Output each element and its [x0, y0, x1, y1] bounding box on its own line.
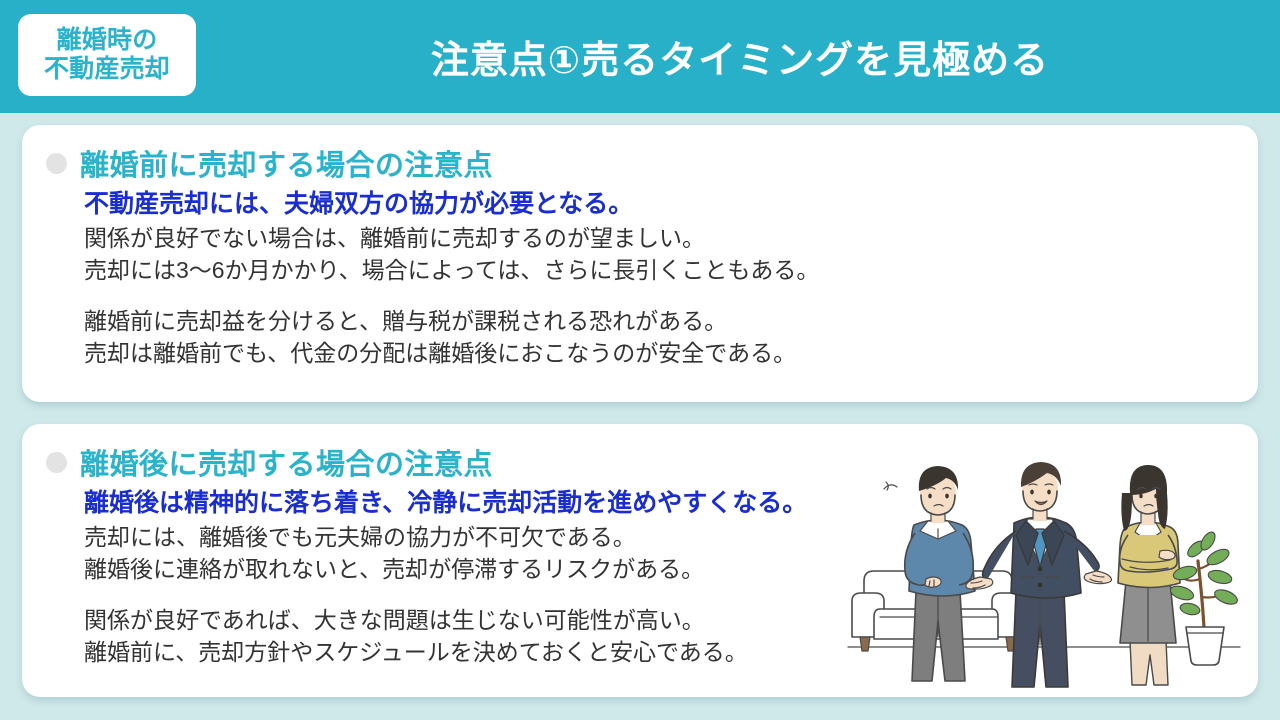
- bullet-dot-icon: [46, 452, 67, 473]
- accent-line: 離婚後は精神的に落ち着き、冷静に売却活動を進めやすくなる。: [84, 486, 1084, 520]
- body-line: 離婚前に売却益を分けると、贈与税が課税される恐れがある。: [84, 306, 1084, 338]
- card-heading: 離婚前に売却する場合の注意点: [46, 142, 493, 184]
- card-before-divorce: 離婚前に売却する場合の注意点 不動産売却には、夫婦双方の協力が必要となる。 関係…: [22, 125, 1258, 402]
- card-body: 離婚後は精神的に落ち着き、冷静に売却活動を進めやすくなる。 売却には、離婚後でも…: [84, 486, 1084, 669]
- eyebrow-right: [1152, 488, 1160, 490]
- paragraph-spacer: [84, 585, 1084, 605]
- card-after-divorce: 離婚後に売却する場合の注意点 離婚後は精神的に落ち着き、冷静に売却活動を進めやす…: [22, 424, 1258, 697]
- header-badge: 離婚時の 不動産売却: [18, 14, 196, 96]
- paragraph-spacer: [84, 286, 1084, 306]
- eyebrow-left: [1029, 484, 1037, 485]
- body-line: 売却には、離婚後でも元夫婦の協力が不可欠である。: [84, 522, 1084, 554]
- badge-line-2: 不動産売却: [44, 55, 170, 84]
- eyebrow-right: [1045, 484, 1053, 485]
- slide-root: 離婚時の 不動産売却 注意点①売るタイミングを見極める 離婚前に売却する場合の注…: [0, 0, 1280, 720]
- body-line: 離婚前に、売却方針やスケジュールを決めておくと安心である。: [84, 637, 1084, 669]
- body-line: 離婚後に連絡が取れないと、売却が停滞するリスクがある。: [84, 554, 1084, 586]
- header-bar: 離婚時の 不動産売却 注意点①売るタイミングを見極める: [0, 0, 1280, 113]
- badge-line-1: 離婚時の: [57, 26, 158, 55]
- person-woman-yellow-cardigan: [1118, 465, 1180, 685]
- mouth-frown: [1144, 505, 1153, 507]
- bullet-dot-icon: [46, 153, 67, 174]
- body-line: 関係が良好でない場合は、離婚前に売却するのが望ましい。: [84, 223, 1084, 255]
- card-heading-label: 離婚後に売却する場合の注意点: [80, 441, 493, 483]
- body-line: 関係が良好であれば、大きな問題は生じない可能性が高い。: [84, 605, 1084, 637]
- hand-right-open: [1084, 571, 1111, 584]
- page-title: 注意点①売るタイミングを見極める: [200, 0, 1280, 113]
- eyebrow-left: [1138, 488, 1146, 490]
- potted-plant: [1169, 530, 1240, 665]
- card-heading-label: 離婚前に売却する場合の注意点: [80, 142, 493, 184]
- body-line: 売却には3〜6か月かかり、場合によっては、さらに長引くこともある。: [84, 255, 1084, 287]
- card-body: 不動産売却には、夫婦双方の協力が必要となる。 関係が良好でない場合は、離婚前に売…: [84, 187, 1084, 370]
- card-heading: 離婚後に売却する場合の注意点: [46, 441, 493, 483]
- body-line: 売却は離婚前でも、代金の分配は離婚後におこなうのが安全である。: [84, 338, 1084, 370]
- accent-line: 不動産売却には、夫婦双方の協力が必要となる。: [84, 187, 1084, 221]
